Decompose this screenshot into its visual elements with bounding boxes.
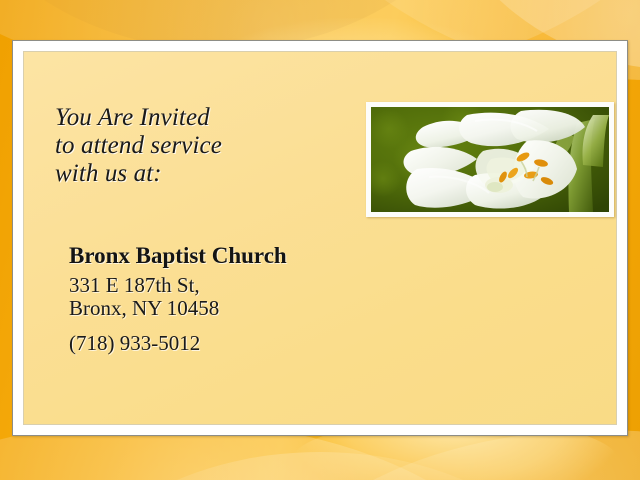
invitation-card-panel: You Are Invited to attend service with u… [23,51,617,425]
address-block: Bronx Baptist Church 331 E 187th St, Bro… [69,242,389,355]
lily-flower-illustration [371,107,609,212]
invitation-heading: You Are Invited to attend service with u… [55,104,355,188]
invitation-slide: You Are Invited to attend service with u… [0,0,640,480]
invitation-heading-line-3: with us at: [55,160,355,188]
church-name: Bronx Baptist Church [69,242,389,270]
invitation-heading-line-1: You Are Invited [55,104,355,132]
invitation-heading-line-2: to attend service [55,132,355,160]
address-city-state-zip: Bronx, NY 10458 [69,297,389,320]
invitation-card-frame: You Are Invited to attend service with u… [12,40,628,436]
address-phone: (718) 933-5012 [69,332,389,355]
lily-photo-frame [366,102,614,217]
address-street: 331 E 187th St, [69,274,389,297]
lily-photo [371,107,609,212]
